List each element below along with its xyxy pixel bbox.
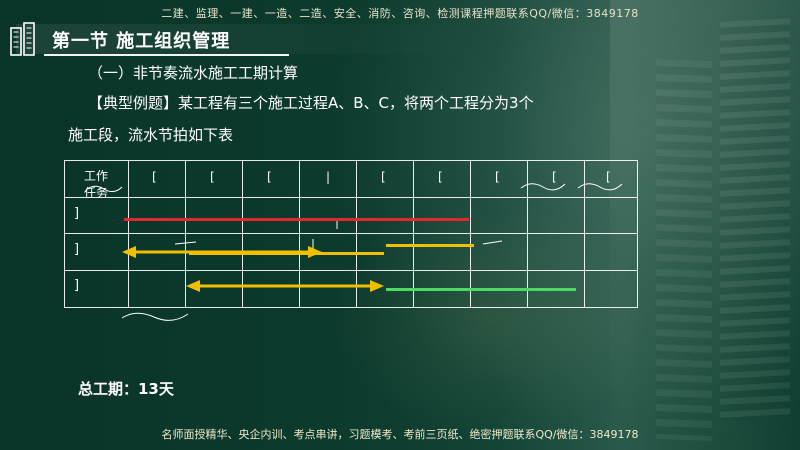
column-tick-5: [ <box>381 170 386 184</box>
subsection-heading: （一）非节奏流水施工工期计算 <box>88 62 298 83</box>
double-arrow-row-c <box>186 278 384 288</box>
total-duration-label: 总工期：13天 <box>78 378 174 399</box>
grid-vline-10 <box>637 160 638 308</box>
bar-task-b2 <box>386 244 474 247</box>
column-tick-3: [ <box>267 170 272 184</box>
grid-hline-top <box>64 160 638 161</box>
grid-vline-7 <box>470 160 471 308</box>
column-tick-1: [ <box>152 170 157 184</box>
bottom-scribble <box>120 308 190 324</box>
bar-task-a <box>124 218 469 221</box>
grid-vline-6 <box>413 160 414 308</box>
header-scribble-right-2 <box>576 180 624 192</box>
row-label-c: ] <box>74 278 79 293</box>
top-marquee-text: 二建、监理、一建、一造、二造、安全、消防、咨询、检测课程押题联系QQ/微信：38… <box>0 5 800 21</box>
grid-vline-0 <box>64 160 65 308</box>
bar-task-c <box>386 288 576 291</box>
row-label-a: ] <box>74 206 79 221</box>
page-title: 第一节 施工组织管理 <box>52 27 230 53</box>
header-underline <box>44 54 289 56</box>
double-arrow-row-b <box>122 244 322 254</box>
header-scribble-left <box>84 182 124 194</box>
building-logo-icon <box>10 22 40 56</box>
grid-hline-3 <box>64 270 638 271</box>
row-b-tick3 <box>482 238 504 248</box>
row-label-b: ] <box>74 242 79 257</box>
grid-hline-2 <box>64 233 638 234</box>
column-tick-7: [ <box>495 170 500 184</box>
grid-vline-1 <box>128 160 129 308</box>
column-tick-2: [ <box>210 170 215 184</box>
bottom-marquee-text: 名师面授精华、央企内训、考点串讲，习题模考、考前三页纸、绝密押题联系QQ/微信：… <box>0 426 800 442</box>
header-scribble-right-1 <box>519 180 567 192</box>
flow-schedule-chart: 工作 任务 [ [ [ | [ [ [ [ [ ] ] ] <box>64 160 638 308</box>
column-tick-4: | <box>326 170 330 184</box>
example-line-2: 施工段，流水节拍如下表 <box>68 124 233 145</box>
example-line-1: 【典型例题】某工程有三个施工过程A、B、C，将两个工程分为3个 <box>88 92 534 113</box>
column-tick-6: [ <box>438 170 443 184</box>
grid-hline-1 <box>64 197 638 198</box>
